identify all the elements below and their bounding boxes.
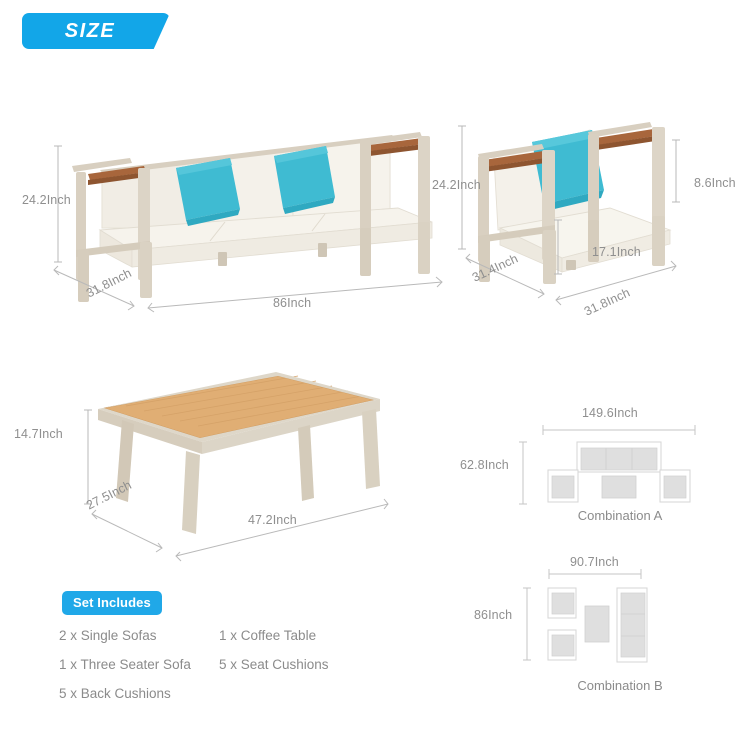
combination-b-height-dimension	[523, 588, 531, 660]
single-sofa-arm-height-label: 8.6Inch	[694, 176, 736, 190]
set-includes-item: 2 x Single Sofas	[59, 628, 219, 643]
set-includes-row: 1 x Three Seater Sofa 5 x Seat Cushions	[59, 657, 419, 672]
set-includes-item: 1 x Coffee Table	[219, 628, 379, 643]
set-includes-badge: Set Includes	[62, 591, 162, 615]
coffee-table-height-dimension	[84, 410, 92, 504]
single-sofa-height-label: 24.2Inch	[432, 178, 481, 192]
coffee-table-width-label: 47.2Inch	[248, 513, 297, 527]
coffee-table-height-label: 14.7Inch	[14, 427, 63, 441]
set-includes-list: 2 x Single Sofas 1 x Coffee Table 1 x Th…	[59, 628, 419, 715]
infographic-canvas: SIZE	[0, 0, 755, 755]
combination-b-chair-top	[548, 588, 576, 618]
combination-a-table-topview	[602, 476, 636, 498]
combination-b-caption: Combination B	[535, 678, 705, 693]
combination-a-chair-right	[660, 470, 690, 502]
set-includes-item: 5 x Back Cushions	[59, 686, 219, 701]
combination-b-sofa-topview	[617, 588, 647, 662]
size-banner: SIZE	[22, 13, 170, 49]
combination-b-table-topview	[585, 606, 609, 642]
sofa-throw-pillow-right	[274, 146, 335, 214]
sofa-throw-pillow-left	[176, 158, 240, 226]
set-includes-item: 1 x Three Seater Sofa	[59, 657, 219, 672]
combination-a-height-dimension	[519, 442, 527, 504]
set-includes-item: 5 x Seat Cushions	[219, 657, 379, 672]
combination-b-chair-bottom	[548, 630, 576, 660]
combination-a-chair-left	[548, 470, 578, 502]
combination-a-height-label: 62.8Inch	[460, 458, 509, 472]
coffee-table-width-dimension	[176, 499, 388, 561]
combination-a-width-dimension	[543, 425, 695, 435]
combination-a-sofa-topview	[577, 442, 661, 472]
size-banner-label: SIZE	[22, 13, 170, 49]
set-includes-row: 2 x Single Sofas 1 x Coffee Table	[59, 628, 419, 643]
coffee-table-illustration	[60, 362, 420, 537]
three-seater-height-label: 24.2Inch	[22, 193, 71, 207]
single-sofa-seat-height-label: 17.1Inch	[592, 245, 641, 259]
coffee-table-depth-dimension	[92, 510, 162, 552]
set-includes-row: 5 x Back Cushions	[59, 686, 419, 701]
combination-a-caption: Combination A	[535, 508, 705, 523]
three-seater-sofa-illustration	[60, 110, 460, 325]
table-top	[98, 372, 380, 454]
combination-b-width-dimension	[549, 569, 641, 579]
combination-a-width-label: 149.6Inch	[582, 406, 638, 420]
set-includes-item-spacer	[219, 686, 379, 701]
single-sofa-arm-height-dimension	[672, 140, 680, 202]
three-seater-width-label: 86Inch	[273, 296, 311, 310]
combination-b-width-label: 90.7Inch	[570, 555, 619, 569]
combination-b-height-label: 86Inch	[474, 608, 512, 622]
single-sofa-illustration	[470, 112, 720, 317]
